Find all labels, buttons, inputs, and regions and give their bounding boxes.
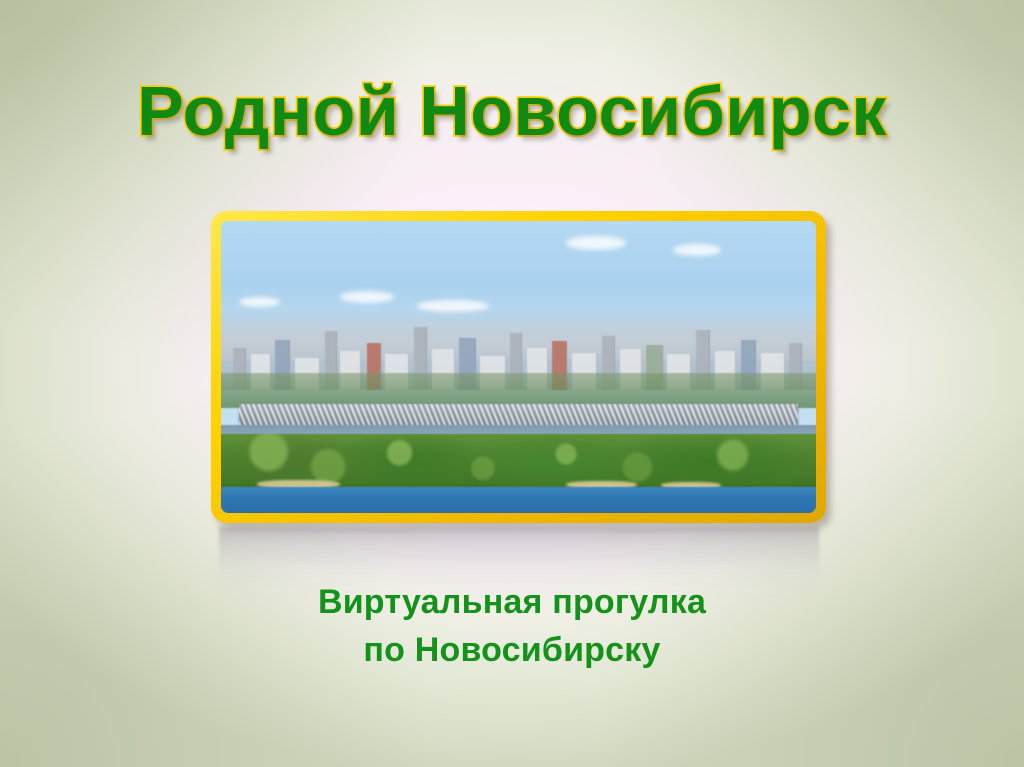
cloud-icon: [566, 236, 626, 251]
page-title: Родной Новосибирск: [0, 76, 1024, 146]
photo-frame: [211, 211, 826, 523]
river-foreground: [221, 487, 816, 513]
subtitle-line-1: Виртуальная прогулка: [0, 578, 1024, 626]
cloud-icon: [673, 244, 721, 256]
city-panorama-image: [221, 221, 816, 513]
railway-bridge: [239, 404, 798, 426]
presentation-slide: Родной Новосибирск: [0, 0, 1024, 767]
bridge-truss: [239, 404, 798, 426]
cloud-icon: [340, 291, 394, 303]
subtitle-line-2: по Новосибирску: [0, 626, 1024, 674]
slide-subtitle: Виртуальная прогулка по Новосибирску: [0, 578, 1024, 675]
forested-island: [221, 434, 816, 492]
